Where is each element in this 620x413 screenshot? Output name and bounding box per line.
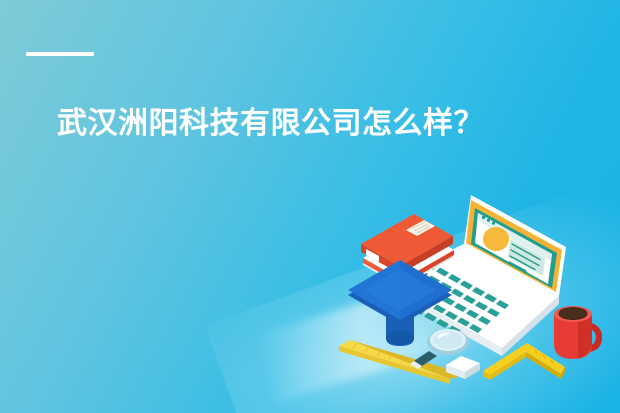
promo-banner: 武汉洲阳科技有限公司怎么样？ — [0, 0, 620, 413]
study-desk-illustration — [330, 186, 620, 413]
accent-rule — [26, 52, 94, 56]
page-title: 武汉洲阳科技有限公司怎么样？ — [57, 104, 484, 144]
coffee-mug-icon — [554, 306, 602, 359]
